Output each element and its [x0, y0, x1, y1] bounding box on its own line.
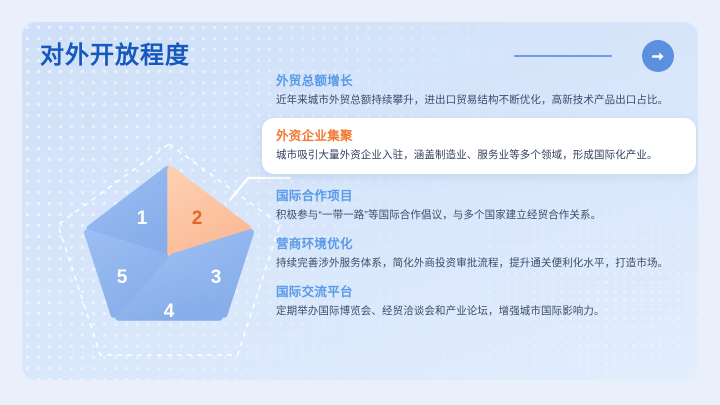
content-item-3[interactable]: 国际合作项目 积极参与“一带一路”等国际合作倡议，与多个国家建立经贸合作关系。	[276, 185, 694, 224]
content-list: 外贸总额增长 近年来城市外贸总额持续攀升，进出口贸易结构不断优化，高新技术产品出…	[276, 70, 694, 319]
page-title: 对外开放程度	[40, 44, 190, 68]
arrow-right-icon	[650, 48, 667, 65]
content-item-2-highlighted[interactable]: 外资企业集聚 城市吸引大量外资企业入驻，涵盖制造业、服务业等多个领域，形成国际化…	[262, 118, 696, 174]
content-item-title: 国际交流平台	[276, 283, 694, 301]
content-item-title: 营商环境优化	[276, 235, 694, 253]
content-item-4[interactable]: 营商环境优化 持续完善涉外服务体系，简化外商投资审批流程，提升通关便利化水平，打…	[276, 233, 694, 272]
content-item-description: 定期举办国际博览会、经贸洽谈会和产业论坛，增强城市国际影响力。	[276, 304, 694, 320]
pentagon-segment-chart: 1 2 3 4 5	[34, 122, 284, 362]
content-item-description: 城市吸引大量外资企业入驻，涵盖制造业、服务业等多个领域，形成国际化产业。	[276, 148, 682, 164]
content-item-title: 国际合作项目	[276, 187, 694, 205]
pentagon-segment-label-3: 3	[211, 267, 222, 288]
content-item-description: 持续完善涉外服务体系，简化外商投资审批流程，提升通关便利化水平，打造市场。	[276, 256, 694, 272]
pentagon-segment-label-1: 1	[137, 208, 148, 229]
content-item-description: 积极参与“一带一路”等国际合作倡议，与多个国家建立经贸合作关系。	[276, 208, 694, 224]
pentagon-segment-label-5: 5	[117, 267, 128, 288]
header-rule-divider	[514, 55, 612, 57]
content-item-title: 外资企业集聚	[276, 127, 682, 145]
pentagon-segment-label-4: 4	[164, 301, 175, 322]
content-item-5[interactable]: 国际交流平台 定期举办国际博览会、经贸洽谈会和产业论坛，增强城市国际影响力。	[276, 281, 694, 320]
content-item-description: 近年来城市外贸总额持续攀升，进出口贸易结构不断优化，高新技术产品出口占比。	[276, 93, 694, 109]
content-item-1[interactable]: 外贸总额增长 近年来城市外贸总额持续攀升，进出口贸易结构不断优化，高新技术产品出…	[276, 70, 694, 109]
pentagon-segment-label-2: 2	[192, 208, 203, 229]
content-item-title: 外贸总额增长	[276, 72, 694, 90]
slide-card: 对外开放程度	[22, 22, 698, 380]
next-arrow-button[interactable]	[642, 40, 674, 72]
